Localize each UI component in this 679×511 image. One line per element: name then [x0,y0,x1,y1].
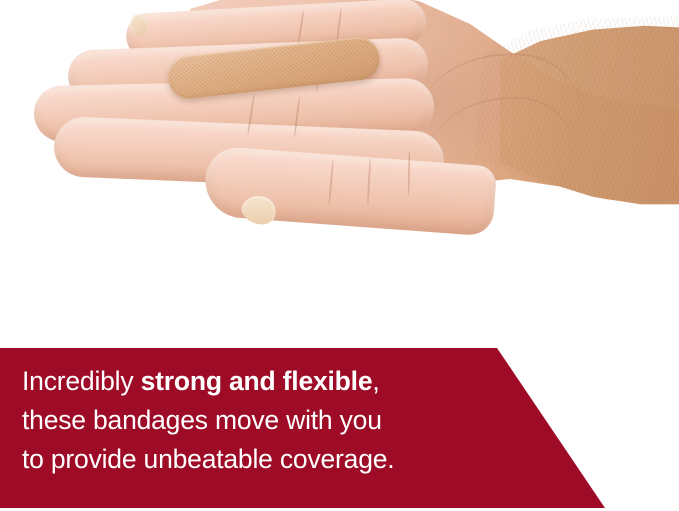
product-lifestyle-image: Incredibly strong and flexible, these ba… [0,0,679,511]
banner-line-2: these bandages move with you [22,401,582,440]
banner-line-3: to provide unbeatable coverage. [22,440,582,479]
marketing-banner: Incredibly strong and flexible, these ba… [0,348,679,508]
banner-line-1: Incredibly strong and flexible, [22,362,582,401]
product-photo [0,0,679,348]
banner-copy: Incredibly strong and flexible, these ba… [22,362,582,479]
banner-line-1-plain: Incredibly [22,366,141,396]
banner-line-1-plain-after: , [372,366,379,396]
hand-illustration [0,0,679,348]
banner-line-1-bold: strong and flexible [141,366,373,396]
